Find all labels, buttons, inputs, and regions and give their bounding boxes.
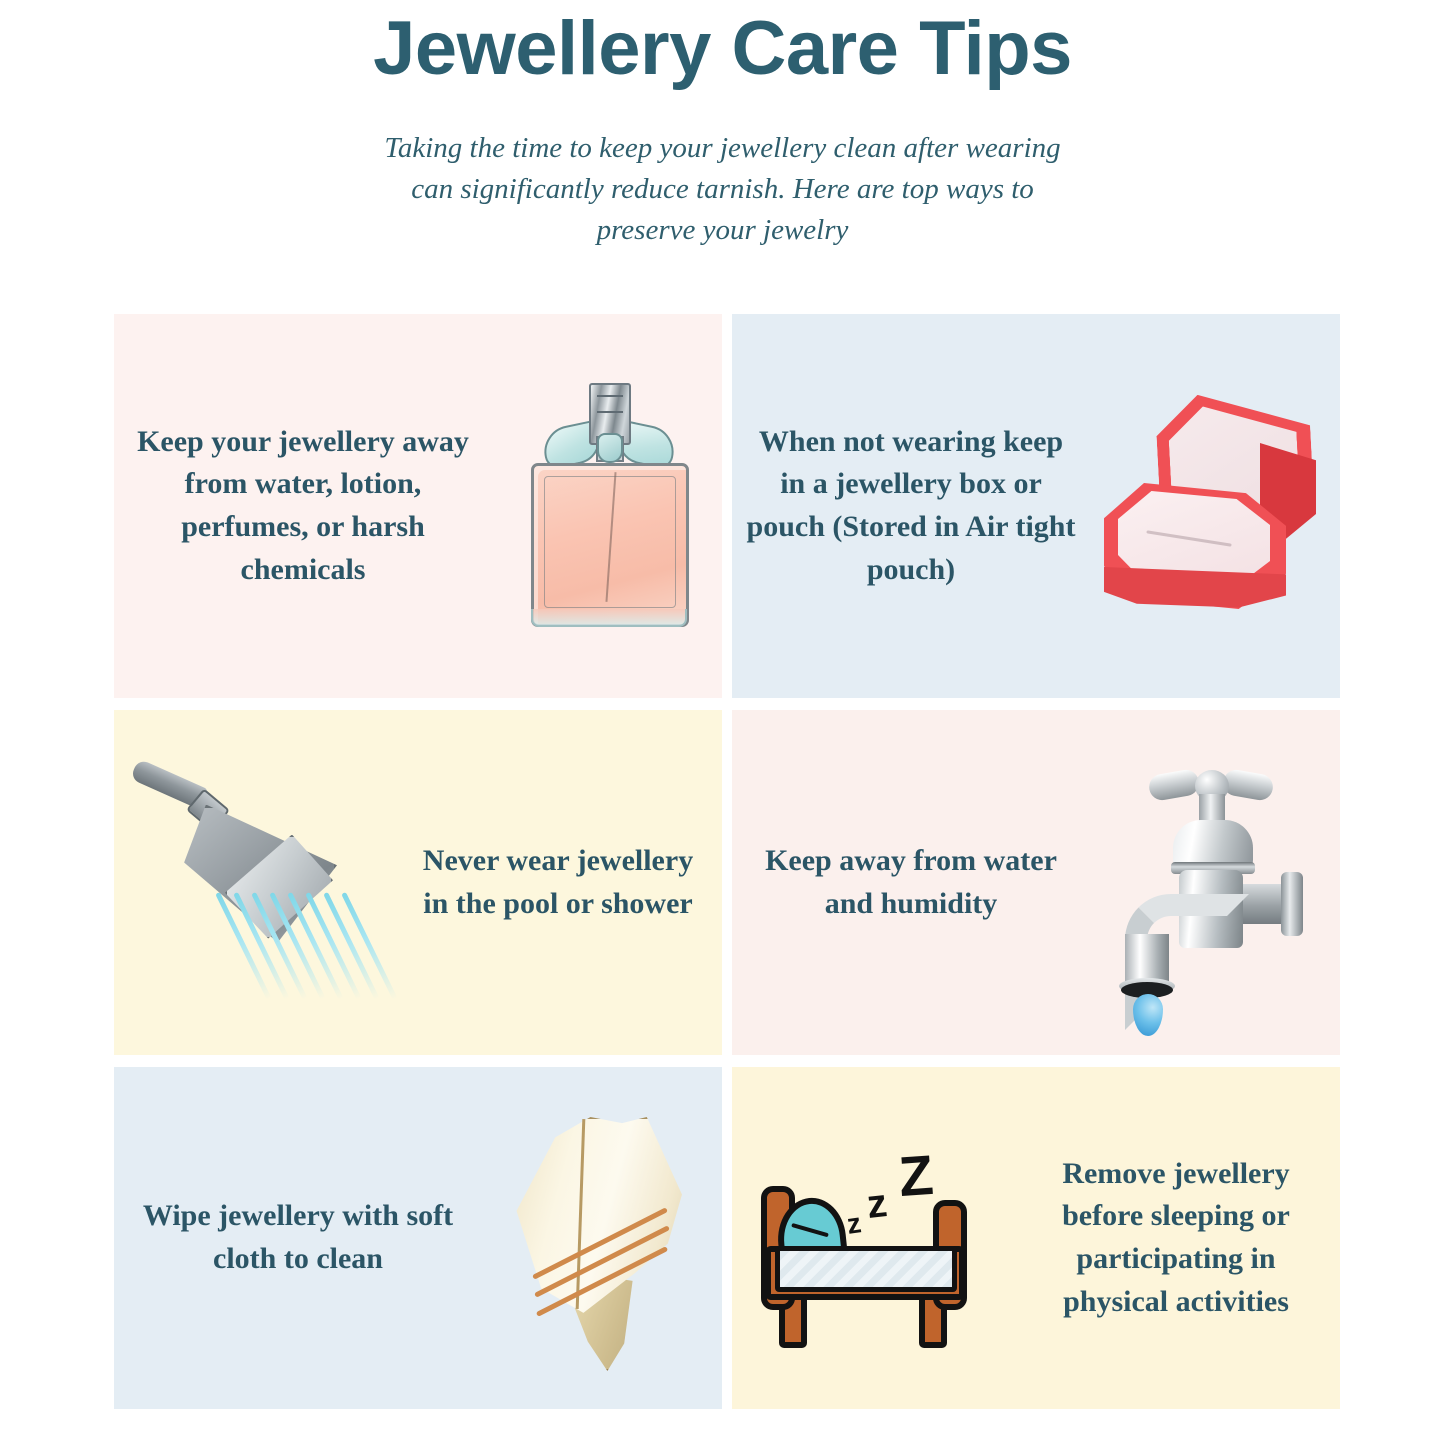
tip-illustration [482,1113,722,1363]
bottle-base [531,609,687,627]
infographic-page: Jewellery Care Tips Taking the time to k… [0,0,1445,1445]
sleep-z-large: Z [897,1147,935,1205]
tip-text: Remove jewellery before sleeping or part… [1012,1153,1340,1323]
page-subtitle: Taking the time to keep your jewellery c… [383,128,1063,252]
bed-mattress [775,1246,957,1292]
handle-right [1221,767,1275,801]
jewellery-box-icon [1100,391,1330,621]
tip-card-avoid-chemicals: Keep your jewellery away from water, lot… [114,314,722,698]
ribbon-knot [597,433,623,463]
bottle-body [531,463,689,627]
water-spray [215,893,385,1033]
cloth-icon [507,1113,697,1363]
sleep-z-medium: z [865,1183,889,1225]
perfume-bottle-icon [517,381,697,631]
faucet-icon [1115,758,1315,1008]
tip-illustration [492,381,722,631]
tip-text: Wipe jewellery with soft cloth to clean [114,1195,482,1280]
shower-head-icon [129,763,379,1003]
tip-illustration [1090,758,1340,1008]
tip-text: Never wear jewellery in the pool or show… [394,840,722,925]
tip-illustration [114,763,394,1003]
tip-text: Keep your jewellery away from water, lot… [114,421,492,591]
page-title: Jewellery Care Tips [0,8,1445,90]
tip-card-wipe-with-cloth: Wipe jewellery with soft cloth to clean [114,1067,722,1409]
box-base-front [1104,567,1286,613]
tip-illustration: z z Z [732,1128,1012,1348]
tip-illustration [1090,391,1340,621]
tip-text: When not wearing keep in a jewellery box… [732,421,1090,591]
wall-flange [1281,872,1303,936]
tip-card-remove-before-sleep: Remove jewellery before sleeping or part… [732,1067,1340,1409]
bed-icon: z z Z [747,1128,997,1348]
sleep-z-small: z [845,1209,863,1239]
header: Jewellery Care Tips Taking the time to k… [0,0,1445,252]
tip-card-avoid-water-humidity: Keep away from water and humidity [732,710,1340,1055]
tip-card-no-pool-or-shower: Never wear jewellery in the pool or show… [114,710,722,1055]
handle-left [1147,767,1201,801]
tip-card-store-in-box: When not wearing keep in a jewellery box… [732,314,1340,698]
tips-grid: Keep your jewellery away from water, lot… [114,314,1340,1409]
tip-text: Keep away from water and humidity [732,840,1090,925]
